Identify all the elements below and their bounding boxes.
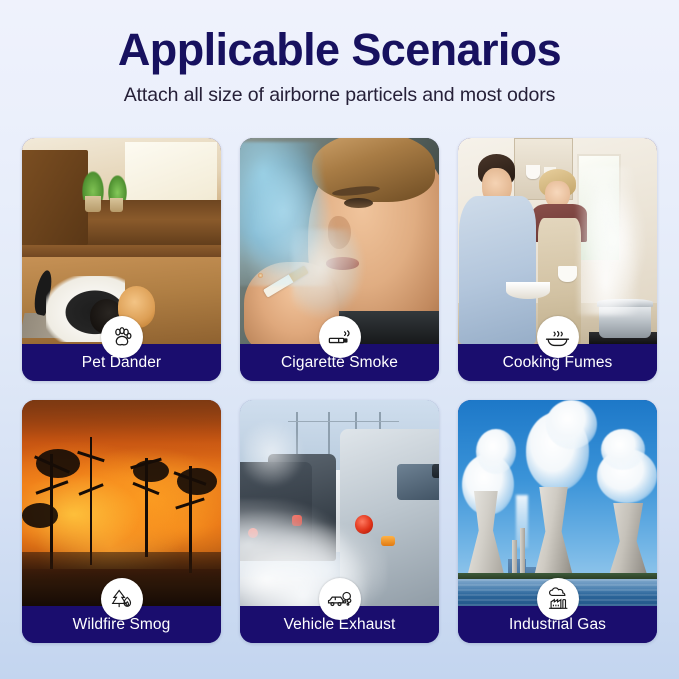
factory-smoke-icon: [537, 578, 579, 620]
car-exhaust-icon: [319, 578, 361, 620]
page-subtitle: Attach all size of airborne particels an…: [0, 84, 679, 107]
scenario-card-grid: Pet Dander: [22, 138, 657, 643]
page-header: Applicable Scenarios Attach all size of …: [0, 0, 679, 107]
paw-print-icon: [101, 316, 143, 358]
burning-trees-icon: [101, 578, 143, 620]
steaming-pan-icon: [537, 316, 579, 358]
scenario-photo-wildfire-smog: [22, 400, 221, 606]
scenario-card-industrial-gas[interactable]: Industrial Gas: [458, 400, 657, 643]
scenario-card-wildfire-smog[interactable]: Wildfire Smog: [22, 400, 221, 643]
scenario-card-cooking-fumes[interactable]: Cooking Fumes: [458, 138, 657, 381]
cigarette-icon: [319, 316, 361, 358]
scenario-card-cigarette-smoke[interactable]: Cigarette Smoke: [240, 138, 439, 381]
scenario-photo-cooking-fumes: [458, 138, 657, 344]
scenario-photo-vehicle-exhaust: [240, 400, 439, 606]
scenario-card-pet-dander[interactable]: Pet Dander: [22, 138, 221, 381]
scenario-photo-cigarette-smoke: [240, 138, 439, 344]
page-title: Applicable Scenarios: [0, 26, 679, 73]
scenario-card-vehicle-exhaust[interactable]: Vehicle Exhaust: [240, 400, 439, 643]
scenario-photo-pet-dander: [22, 138, 221, 344]
scenario-photo-industrial-gas: [458, 400, 657, 606]
